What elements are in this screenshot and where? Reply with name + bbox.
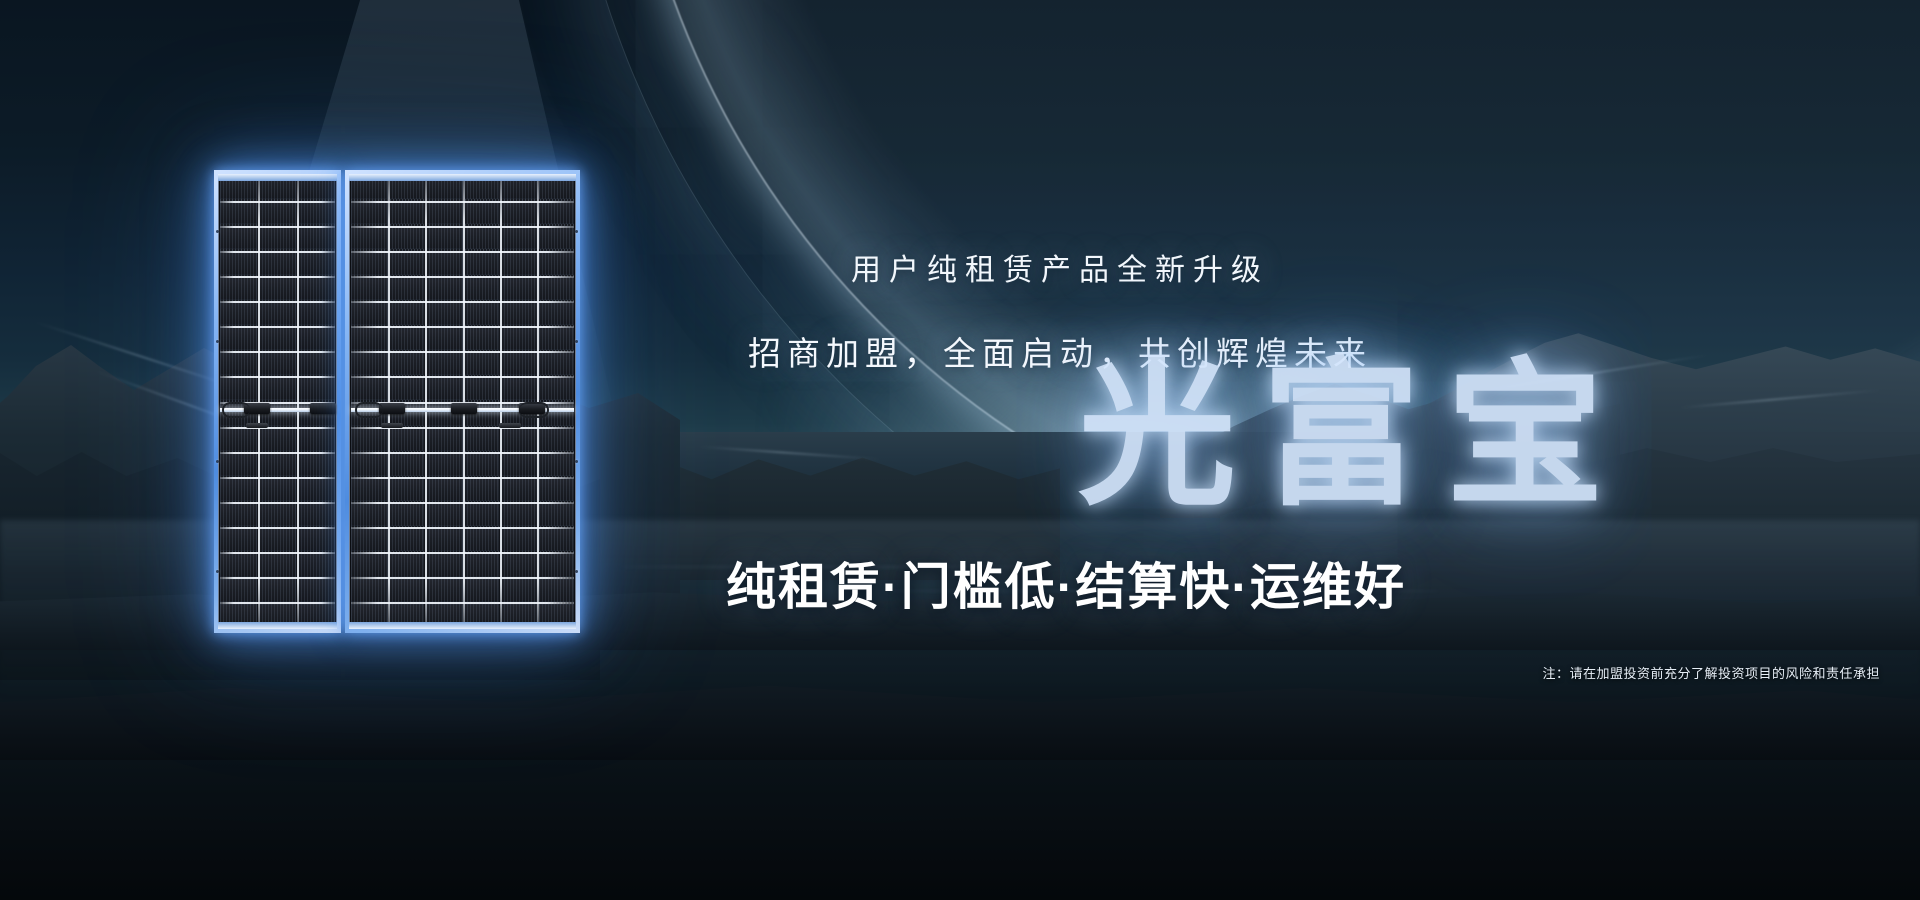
solar-cell: [464, 251, 500, 274]
tagline: 纯租赁·门槛低·结算快·运维好: [726, 547, 1406, 619]
solar-cell: [501, 352, 537, 375]
solar-cell: [501, 251, 537, 274]
solar-cell: [389, 201, 425, 224]
solar-cell: [351, 503, 387, 526]
mc4-connector: [246, 423, 268, 428]
solar-cell: [464, 453, 500, 476]
solar-cell: [464, 302, 500, 325]
frame-mount-dot: [216, 340, 219, 343]
solar-cell: [351, 201, 387, 224]
solar-cell: [501, 302, 537, 325]
brand-name: 光富宝: [1078, 348, 1630, 525]
frame-mount-dot: [575, 230, 578, 233]
solar-cell: [351, 428, 387, 451]
solar-cell: [298, 226, 335, 249]
solar-cell: [464, 579, 500, 602]
solar-cell: [389, 327, 425, 350]
frame-mount-dot: [575, 340, 578, 343]
solar-cell: [464, 277, 500, 300]
mc4-connector: [381, 423, 403, 428]
solar-cell: [539, 579, 575, 602]
solar-cell: [464, 327, 500, 350]
frame-rail-bottom: [218, 622, 337, 629]
solar-cell: [259, 478, 296, 501]
frame-mount-dot: [216, 230, 219, 233]
solar-cell: [539, 201, 575, 224]
promo-banner: 用户纯租赁产品全新升级 招商加盟，全面启动，共创辉煌未来 光富宝 纯租赁·门槛低…: [0, 0, 1920, 900]
solar-cell: [351, 377, 387, 400]
solar-cell: [220, 377, 257, 400]
solar-cell: [501, 503, 537, 526]
solar-cell: [298, 302, 335, 325]
solar-cell: [426, 251, 462, 274]
solar-cell: [539, 503, 575, 526]
frame-rail-bottom: [349, 622, 576, 629]
solar-cell: [298, 352, 335, 375]
solar-cell: [220, 201, 257, 224]
solar-cell: [220, 478, 257, 501]
solar-cell: [464, 428, 500, 451]
solar-panel-left-half: [214, 170, 341, 633]
solar-cell: [389, 277, 425, 300]
solar-cell: [426, 453, 462, 476]
solar-cell: [259, 428, 296, 451]
solar-cell: [259, 302, 296, 325]
frame-mount-dot: [216, 460, 219, 463]
solar-cell: [426, 528, 462, 551]
solar-cell: [501, 277, 537, 300]
solar-cell: [389, 226, 425, 249]
solar-cell: [259, 251, 296, 274]
solar-cell: [259, 553, 296, 576]
solar-cell: [426, 302, 462, 325]
solar-cell: [426, 579, 462, 602]
solar-cell: [426, 327, 462, 350]
junction-box: [451, 403, 477, 414]
solar-cell: [298, 553, 335, 576]
solar-cell: [501, 226, 537, 249]
solar-cell: [389, 478, 425, 501]
solar-cell: [501, 453, 537, 476]
solar-cell: [501, 579, 537, 602]
solar-cell: [220, 453, 257, 476]
solar-cell: [220, 579, 257, 602]
solar-cell: [351, 251, 387, 274]
disclaimer-note: 注：请在加盟投资前充分了解投资项目的风险和责任承担: [1542, 663, 1880, 682]
solar-cell: [220, 428, 257, 451]
solar-cell: [220, 553, 257, 576]
solar-panel-right-half: [345, 170, 580, 633]
solar-cell: [539, 553, 575, 576]
solar-cell: [351, 302, 387, 325]
solar-cell: [389, 302, 425, 325]
frame-rail-top: [349, 174, 576, 181]
solar-cell: [298, 478, 335, 501]
dc-cable: [519, 402, 549, 418]
solar-cell: [501, 428, 537, 451]
solar-cell: [464, 377, 500, 400]
solar-cell: [464, 503, 500, 526]
dc-cable: [355, 402, 383, 418]
solar-cell: [501, 478, 537, 501]
solar-cell: [426, 553, 462, 576]
solar-cell: [426, 503, 462, 526]
solar-cell: [539, 428, 575, 451]
frame-mount-dot: [216, 570, 219, 573]
solar-cell: [389, 503, 425, 526]
solar-cell: [426, 377, 462, 400]
solar-cell: [539, 528, 575, 551]
solar-cell: [351, 528, 387, 551]
headline: 用户纯租赁产品全新升级: [851, 245, 1269, 289]
solar-cell: [351, 579, 387, 602]
solar-cell: [426, 478, 462, 501]
solar-cell: [220, 503, 257, 526]
solar-cell: [220, 277, 257, 300]
solar-cell: [259, 528, 296, 551]
solar-cell: [389, 251, 425, 274]
solar-cell: [298, 201, 335, 224]
solar-cell: [426, 352, 462, 375]
dc-cable: [222, 402, 250, 418]
solar-cell: [501, 377, 537, 400]
solar-cell: [298, 579, 335, 602]
solar-cell: [298, 428, 335, 451]
solar-cell: [426, 277, 462, 300]
solar-cell: [259, 503, 296, 526]
solar-cell: [351, 553, 387, 576]
solar-cell: [259, 352, 296, 375]
solar-cell: [501, 201, 537, 224]
frame-mount-dot: [575, 460, 578, 463]
solar-cell: [351, 453, 387, 476]
frame-mount-dot: [575, 570, 578, 573]
solar-cell: [389, 377, 425, 400]
solar-cell: [259, 579, 296, 602]
frame-rail-top: [218, 174, 337, 181]
solar-cell: [464, 478, 500, 501]
solar-cell: [389, 428, 425, 451]
solar-cell: [426, 428, 462, 451]
solar-cell: [259, 226, 296, 249]
solar-cell: [259, 327, 296, 350]
solar-cell: [389, 553, 425, 576]
solar-cell: [539, 277, 575, 300]
solar-cell: [259, 453, 296, 476]
solar-cell: [351, 478, 387, 501]
solar-cell: [539, 377, 575, 400]
solar-cell: [501, 553, 537, 576]
solar-cell: [539, 226, 575, 249]
solar-cell: [220, 352, 257, 375]
solar-cell: [389, 579, 425, 602]
solar-cell: [389, 528, 425, 551]
solar-cell: [298, 277, 335, 300]
solar-cell: [298, 453, 335, 476]
solar-cell: [259, 377, 296, 400]
solar-cell: [351, 327, 387, 350]
solar-cell: [539, 251, 575, 274]
mc4-connector: [499, 423, 521, 428]
solar-cell: [298, 377, 335, 400]
solar-panel[interactable]: [214, 170, 580, 633]
solar-cell: [220, 528, 257, 551]
solar-cell: [464, 528, 500, 551]
solar-cell: [464, 352, 500, 375]
solar-cell: [389, 352, 425, 375]
solar-cell: [351, 226, 387, 249]
solar-cell: [539, 352, 575, 375]
solar-cell: [259, 201, 296, 224]
solar-cell: [220, 251, 257, 274]
solar-cell: [389, 453, 425, 476]
solar-cell: [298, 503, 335, 526]
solar-cell: [464, 553, 500, 576]
solar-cell: [539, 478, 575, 501]
solar-cell: [298, 528, 335, 551]
solar-cell: [539, 327, 575, 350]
solar-cell: [539, 302, 575, 325]
solar-cell: [220, 302, 257, 325]
solar-cell: [464, 226, 500, 249]
junction-box: [310, 403, 336, 414]
solar-cell: [501, 327, 537, 350]
solar-cell: [351, 352, 387, 375]
solar-cell: [351, 277, 387, 300]
solar-cell: [220, 327, 257, 350]
solar-cell: [220, 226, 257, 249]
solar-cell: [464, 201, 500, 224]
solar-cell: [298, 251, 335, 274]
solar-cell: [298, 327, 335, 350]
solar-cell: [426, 226, 462, 249]
solar-cell: [426, 201, 462, 224]
solar-cell: [539, 453, 575, 476]
solar-cell: [501, 528, 537, 551]
solar-cell: [259, 277, 296, 300]
